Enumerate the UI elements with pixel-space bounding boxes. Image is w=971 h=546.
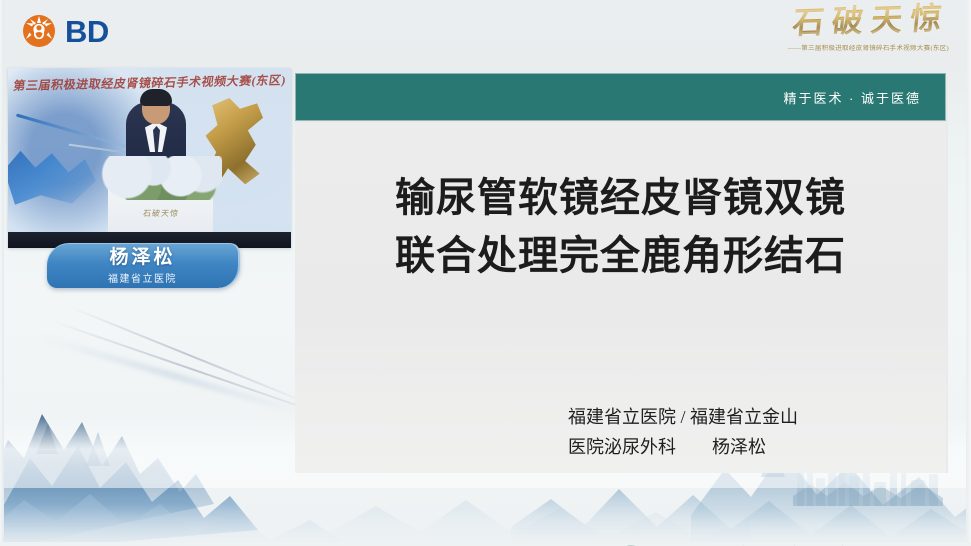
event-logo-title: 石破天惊 [732, 0, 952, 43]
podium-text: 石破天惊 [125, 208, 197, 219]
frame-edge-left [0, 0, 4, 546]
hospital-logo: 福建省立醫院南院 Fujian Provincial Hospital Sout… [611, 541, 851, 546]
frame-edge-right [966, 0, 971, 546]
event-logo-subtitle: ——第三届积极进取经皮肾镜碎石手术视频大赛(东区) [734, 42, 949, 52]
bd-wordmark: BD [65, 16, 109, 47]
slide-title-line-2: 联合处理完全鹿角形结石 [295, 227, 946, 285]
podium-flowers [100, 156, 222, 200]
speaker-name-plate: 杨泽松 福建省立医院 [47, 243, 240, 288]
slide-title: 输尿管软镜经皮肾镜双镜 联合处理完全鹿角形结石 [295, 169, 946, 285]
slide-title-line-1: 输尿管软镜经皮肾镜双镜 [295, 169, 946, 227]
slide-affiliation: 福建省立医院 / 福建省立金山 医院泌尿外科 杨泽松 [568, 403, 898, 462]
ribbon-streak-2 [70, 306, 312, 405]
bd-sunburst-icon [22, 14, 56, 48]
presentation-slide[interactable]: 精于医术 · 诚于医德 输尿管软镜经皮肾镜双镜 联合处理完全鹿角形结石 福建省立… [295, 73, 948, 473]
slide-body: 输尿管软镜经皮肾镜双镜 联合处理完全鹿角形结石 福建省立医院 / 福建省立金山 … [295, 123, 946, 473]
ribbon-streak-1 [52, 320, 336, 420]
presentation-stage: BD 石破天惊 ——第三届积极进取经皮肾镜碎石手术视频大赛(东区) 石破天惊 第… [0, 0, 971, 546]
slide-motto: 精于医术 · 诚于医德 [783, 88, 921, 107]
ribbon-streak-3 [39, 334, 310, 418]
speaker-video-panel[interactable]: 石破天惊 第三届积极进取经皮肾镜碎石手术视频大赛(东区) [8, 68, 291, 248]
speaker-organization: 福建省立医院 [47, 270, 238, 285]
tree-icon [611, 541, 651, 546]
speaker-name: 杨泽松 [47, 247, 238, 269]
bd-logo: BD [22, 14, 109, 48]
slide-header-bar: 精于医术 · 诚于医德 [295, 73, 946, 121]
event-logo: 石破天惊 ——第三届积极进取经皮肾镜碎石手术视频大赛(东区) [734, 4, 949, 62]
